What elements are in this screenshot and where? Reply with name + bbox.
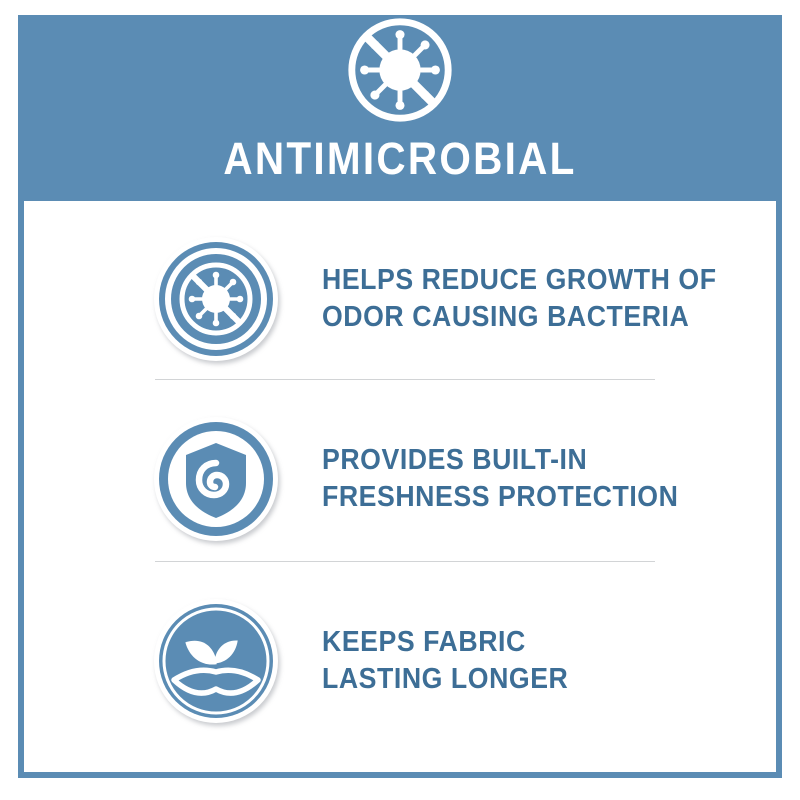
feature-icon-badge (154, 599, 278, 723)
feature-icon-badge (154, 237, 278, 361)
feature-label: HELPS REDUCE GROWTH OF ODOR CAUSING BACT… (322, 262, 717, 336)
antimicrobial-feature-card: ANTIMICROBIAL (0, 0, 800, 800)
feature-divider (155, 379, 655, 380)
shield-freshness-icon (154, 417, 278, 541)
no-virus-circle-icon (154, 237, 278, 361)
feature-icon-badge (154, 417, 278, 541)
feature-divider (155, 561, 655, 562)
feature-label: PROVIDES BUILT-IN FRESHNESS PROTECTION (322, 442, 678, 516)
card-header: ANTIMICROBIAL (18, 15, 782, 201)
leaf-sprout-icon (154, 599, 278, 723)
feature-list: HELPS REDUCE GROWTH OF ODOR CAUSING BACT… (24, 201, 776, 772)
feature-row: KEEPS FABRIC LASTING LONGER (24, 583, 776, 738)
page-title: ANTIMICROBIAL (56, 133, 744, 185)
feature-label: KEEPS FABRIC LASTING LONGER (322, 624, 568, 698)
no-virus-icon (341, 15, 459, 129)
feature-row: PROVIDES BUILT-IN FRESHNESS PROTECTION (24, 401, 776, 556)
feature-row: HELPS REDUCE GROWTH OF ODOR CAUSING BACT… (24, 221, 776, 376)
